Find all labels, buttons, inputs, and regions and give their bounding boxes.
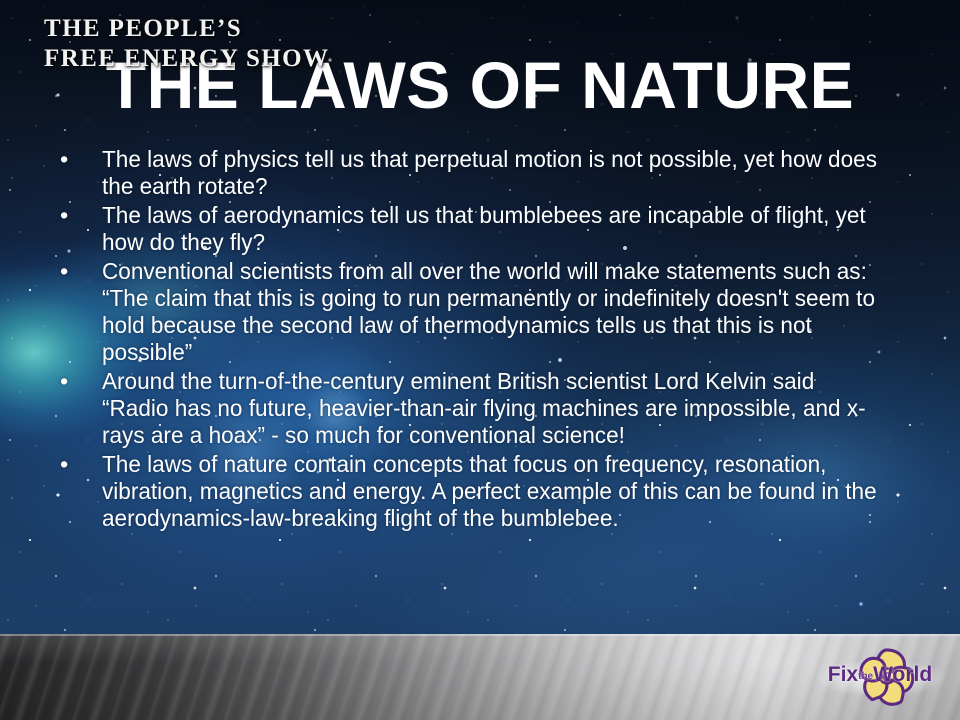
list-item-text: Around the turn-of-the-century eminent B… <box>102 368 880 449</box>
bullet-point-icon: • <box>52 258 102 285</box>
bullet-list: • The laws of physics tell us that perpe… <box>52 146 912 534</box>
list-item-text: The laws of aerodynamics tell us that bu… <box>102 202 880 256</box>
bullet-point-icon: • <box>52 202 102 229</box>
list-item-text: The laws of physics tell us that perpetu… <box>102 146 880 200</box>
brand-line-2: FREE ENERGY SHOW <box>44 44 329 74</box>
bullet-point-icon: • <box>52 146 102 173</box>
logo-word-world: World <box>873 663 932 686</box>
list-item: • Around the turn-of-the-century eminent… <box>52 368 912 449</box>
bullet-point-icon: • <box>52 368 102 395</box>
list-item: • The laws of nature contain concepts th… <box>52 451 912 532</box>
bullet-point-icon: • <box>52 451 102 478</box>
list-item: • The laws of physics tell us that perpe… <box>52 146 912 200</box>
footer-top-highlight <box>0 634 960 636</box>
brand-wordmark: THE PEOPLE’S FREE ENERGY SHOW <box>44 14 329 74</box>
list-item-text: Conventional scientists from all over th… <box>102 258 880 366</box>
brand-line-1: THE PEOPLE’S <box>44 14 329 44</box>
list-item: • The laws of aerodynamics tell us that … <box>52 202 912 256</box>
list-item-text: The laws of nature contain concepts that… <box>102 451 880 532</box>
logo-wordmark: FixtheWorld <box>812 663 948 689</box>
logo-word-fix: Fix <box>828 663 858 686</box>
fix-the-world-logo[interactable]: FixtheWorld <box>812 643 948 713</box>
logo-word-the: the <box>858 671 873 682</box>
list-item: • Conventional scientists from all over … <box>52 258 912 366</box>
slide: THE LAWS OF NATURE • The laws of physics… <box>0 0 960 720</box>
